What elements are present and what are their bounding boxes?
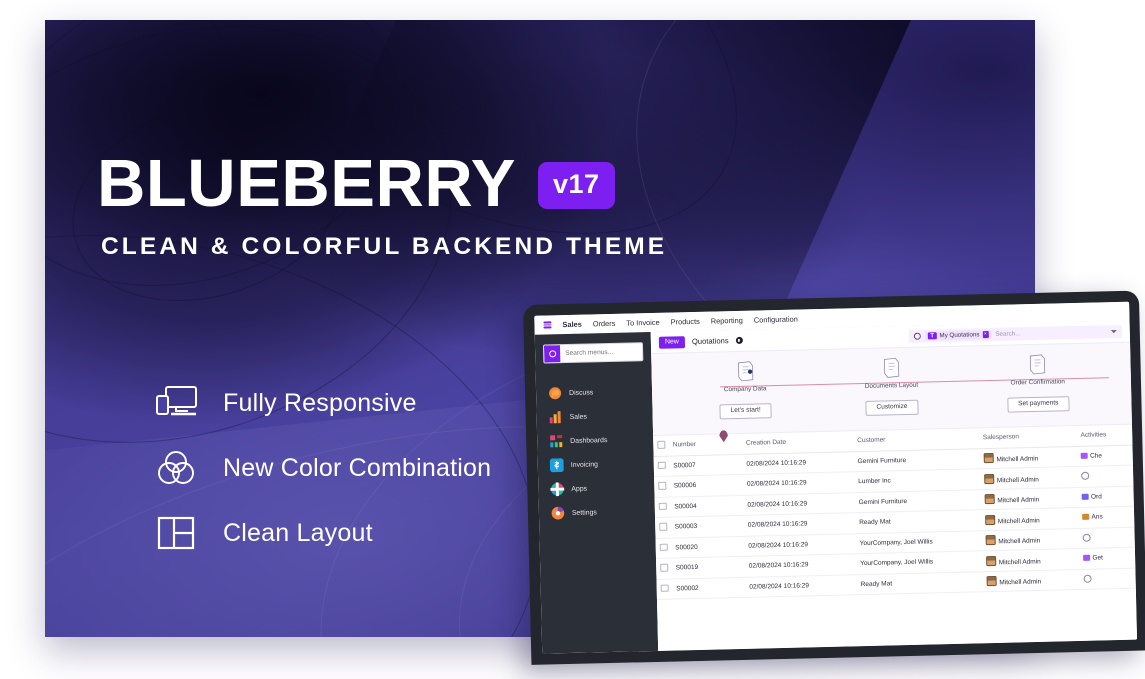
search-bar[interactable]: T My Quotations × Search... [909, 325, 1122, 343]
breadcrumb: Quotations [692, 336, 729, 346]
sidebar-item-settings[interactable]: Settings [551, 504, 647, 520]
onboarding-step-hint [1037, 388, 1039, 394]
menu-item-sales[interactable]: Sales [562, 320, 582, 329]
feature-item-responsive: Fully Responsive [155, 383, 491, 423]
cell-creation-date: 02/08/2024 10:16:29 [745, 574, 857, 597]
clock-icon [1084, 574, 1092, 582]
search-placeholder[interactable]: Search... [995, 330, 1020, 338]
sidebar-item-sales[interactable]: Sales [548, 408, 644, 424]
onboarding-step-label: Order Confirmation [1011, 378, 1065, 386]
cell-number: S00007 [669, 454, 743, 476]
avatar [985, 514, 995, 524]
document-icon [735, 361, 754, 382]
row-checkbox-cell[interactable] [655, 517, 671, 538]
avatar [984, 494, 994, 504]
search-menus-input[interactable] [560, 347, 642, 358]
table-body: S00007 02/08/2024 10:16:29 Gemini Furnit… [654, 445, 1136, 600]
cell-activities[interactable]: Ans [1078, 506, 1134, 528]
gear-icon[interactable] [736, 337, 743, 344]
checkbox[interactable] [658, 482, 666, 490]
dashboards-app-icon [549, 434, 563, 448]
onboarding-step-button[interactable]: Customize [865, 400, 918, 416]
menu-item-orders[interactable]: Orders [593, 319, 616, 329]
hero-subtitle: CLEAN & COLORFUL BACKEND THEME [101, 233, 717, 261]
avatar [985, 535, 995, 545]
onboarding-step-hint [891, 391, 893, 397]
row-checkbox-cell[interactable] [655, 497, 671, 518]
cell-salesperson: Mitchell Admin [982, 548, 1080, 571]
app-screen: Sales Orders To Invoice Products Reporti… [534, 302, 1137, 654]
cell-activities[interactable] [1077, 465, 1133, 487]
avatar [983, 453, 993, 463]
apps-app-icon [550, 482, 564, 496]
sidebar-item-label: Invoicing [571, 461, 598, 469]
column-header-activities[interactable]: Activities [1076, 425, 1132, 446]
cell-creation-date: 02/08/2024 10:16:29 [744, 513, 856, 536]
sidebar-item-apps[interactable]: Apps [550, 480, 646, 496]
document-icon [881, 357, 900, 378]
cell-activities[interactable]: Ord [1078, 486, 1134, 508]
invoicing-app-icon [550, 458, 564, 472]
sales-app-icon [548, 410, 562, 424]
row-checkbox-cell[interactable] [656, 579, 672, 600]
sidebar-item-dashboards[interactable]: Dashboards [549, 432, 645, 448]
activity-badge-icon [1083, 555, 1090, 561]
feature-item-colors: New Color Combination [155, 448, 491, 488]
cell-number: S00002 [672, 577, 746, 599]
cell-salesperson: Mitchell Admin [979, 446, 1077, 469]
close-icon[interactable]: × [982, 331, 988, 339]
cell-salesperson: Mitchell Admin [981, 507, 1079, 530]
quotations-table: Number Creation Date Customer Salesperso… [653, 425, 1136, 600]
row-checkbox-cell[interactable] [654, 456, 670, 477]
checkbox[interactable] [661, 584, 669, 592]
cell-creation-date: 02/08/2024 10:16:29 [745, 554, 857, 577]
feature-label: New Color Combination [223, 454, 491, 483]
cell-creation-date: 02/08/2024 10:16:29 [743, 492, 855, 515]
row-checkbox-cell[interactable] [654, 476, 670, 497]
hero-text-block: BLUEBERRY v17 CLEAN & COLORFUL BACKEND T… [97, 150, 717, 261]
cell-activities[interactable]: Che [1077, 445, 1133, 467]
sidebar-item-label: Sales [570, 413, 587, 420]
cell-activities[interactable]: Get [1079, 547, 1135, 569]
search-icon [914, 333, 921, 340]
column-header-number[interactable]: Number [669, 434, 743, 456]
onboarding-step-documents-layout: Documents Layout Customize [818, 356, 964, 417]
checkbox[interactable] [660, 543, 668, 551]
menu-item-to-invoice[interactable]: To Invoice [626, 318, 659, 328]
cell-salesperson: Mitchell Admin [981, 528, 1079, 551]
laptop-lid: Sales Orders To Invoice Products Reporti… [523, 290, 1145, 664]
cell-customer: Ready Mat [856, 571, 982, 594]
menu-item-products[interactable]: Products [671, 317, 700, 327]
cell-creation-date: 02/08/2024 10:16:29 [743, 472, 855, 495]
avatar [984, 473, 994, 483]
app-main: New Quotations T My Quotations × Se [651, 321, 1137, 651]
cell-number: S00020 [671, 536, 745, 558]
checkbox[interactable] [660, 564, 668, 572]
cell-number: S00006 [670, 474, 744, 496]
cell-salesperson: Mitchell Admin [980, 466, 1078, 489]
clock-icon [1083, 533, 1091, 541]
onboarding-step-company-data: Company Data Let's start! [672, 359, 818, 420]
feature-label: Fully Responsive [223, 389, 417, 418]
sidebar-item-label: Dashboards [570, 437, 607, 445]
menu-item-configuration[interactable]: Configuration [754, 315, 798, 325]
cell-creation-date: 02/08/2024 10:16:29 [744, 533, 856, 556]
settings-app-icon [551, 506, 565, 520]
sidebar-item-label: Settings [572, 509, 597, 517]
avatar [986, 555, 996, 565]
discuss-app-icon [548, 386, 562, 400]
venn-circles-icon [155, 448, 199, 488]
cell-number: S00003 [671, 515, 745, 537]
sidebar-item-discuss[interactable]: Discuss [548, 384, 644, 400]
filter-chip-my-quotations[interactable]: T My Quotations × [925, 330, 992, 341]
new-button[interactable]: New [659, 336, 685, 349]
activity-badge-icon [1082, 493, 1089, 499]
activity-badge-icon [1082, 514, 1089, 520]
sidebar-app-list: Discuss Sales [544, 384, 647, 520]
hamburger-icon[interactable] [543, 322, 551, 329]
filter-tag-letter: T [928, 332, 937, 339]
onboarding-step-label: Documents Layout [865, 382, 918, 390]
page-title: BLUEBERRY [97, 150, 516, 217]
row-checkbox-cell[interactable] [656, 538, 672, 559]
responsive-devices-icon [155, 383, 199, 423]
document-icon [1028, 354, 1047, 375]
app-body: Discuss Sales [535, 321, 1137, 654]
chevron-down-icon[interactable] [1111, 330, 1117, 333]
hero-title-row: BLUEBERRY v17 [97, 150, 717, 217]
sidebar-search[interactable] [543, 342, 643, 363]
cell-number: S00019 [672, 556, 746, 578]
sidebar-item-label: Apps [571, 485, 587, 492]
page-root: BLUEBERRY v17 CLEAN & COLORFUL BACKEND T… [0, 0, 1145, 679]
cell-activities[interactable] [1080, 568, 1136, 590]
cell-salesperson: Mitchell Admin [982, 569, 1080, 592]
clock-icon [1081, 472, 1089, 480]
cell-creation-date: 02/08/2024 10:16:29 [742, 451, 854, 474]
grid-layout-icon [155, 513, 199, 553]
onboarding-step-hint [745, 395, 747, 401]
checkbox[interactable] [657, 441, 665, 449]
activity-badge-icon [1081, 452, 1088, 458]
onboarding-steps: Company Data Let's start! Documents Layo… [651, 352, 1131, 421]
menu-item-reporting[interactable]: Reporting [711, 316, 743, 326]
cell-activities[interactable] [1079, 527, 1135, 549]
sidebar-item-label: Discuss [569, 389, 593, 397]
column-header-creation-date[interactable]: Creation Date [742, 431, 854, 454]
onboarding-step-button[interactable]: Set payments [1007, 396, 1070, 412]
onboarding-banner: Company Data Let's start! Documents Layo… [651, 342, 1132, 436]
row-checkbox-cell[interactable] [656, 558, 672, 579]
filter-chip-label: My Quotations [939, 331, 979, 339]
version-badge: v17 [538, 162, 615, 209]
search-icon [544, 345, 560, 362]
app-sidebar: Discuss Sales [535, 332, 658, 654]
feature-list: Fully Responsive New Color Combination [155, 383, 491, 553]
select-all-checkbox-cell[interactable] [653, 436, 669, 456]
cell-number: S00004 [670, 495, 744, 517]
onboarding-step-button[interactable]: Let's start! [719, 403, 772, 419]
laptop-mockup: Sales Orders To Invoice Products Reporti… [523, 290, 1145, 664]
checkbox[interactable] [658, 461, 666, 469]
sidebar-item-invoicing[interactable]: Invoicing [550, 456, 646, 472]
onboarding-step-label: Company Data [724, 385, 767, 393]
column-header-salesperson[interactable]: Salesperson [979, 426, 1077, 448]
feature-label: Clean Layout [223, 519, 373, 548]
avatar [986, 576, 996, 586]
checkbox[interactable] [659, 523, 667, 531]
onboarding-step-order-confirmation: Order Confirmation Set payments [965, 352, 1111, 413]
feature-item-layout: Clean Layout [155, 513, 491, 553]
checkbox[interactable] [659, 502, 667, 510]
cell-salesperson: Mitchell Admin [980, 487, 1078, 510]
